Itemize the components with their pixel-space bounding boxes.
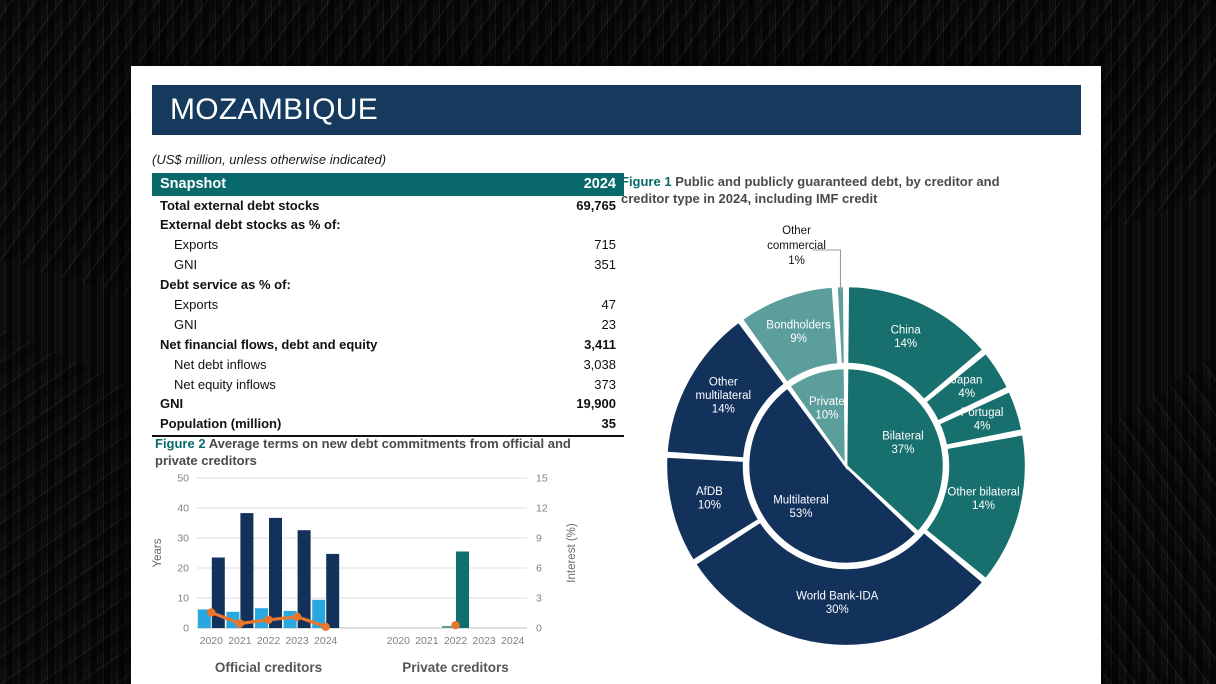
interest-rate-marker (264, 616, 272, 624)
pie-slice-label: 4% (974, 420, 991, 432)
snapshot-row-value: 351 (533, 256, 624, 276)
snapshot-row-label: Debt service as % of: (152, 276, 533, 296)
pie-callout-label: 1% (788, 255, 805, 267)
bar-maturity (240, 513, 253, 628)
table-row: Debt service as % of: (152, 276, 624, 296)
pie-slice-label: 37% (891, 444, 914, 456)
interest-rate-marker (207, 608, 215, 616)
snapshot-row-label: Net financial flows, debt and equity (152, 335, 533, 355)
page-title: MOZAMBIQUE (152, 93, 378, 127)
pie-slice-label: Other (709, 377, 738, 389)
figure1-pie-chart: Bilateral37%Multilateral53%Private10%Chi… (631, 216, 1061, 676)
interest-rate-marker (451, 621, 459, 629)
table-row: Net financial flows, debt and equity3,41… (152, 335, 624, 355)
snapshot-row-value (533, 276, 624, 296)
snapshot-row-label: GNI (152, 315, 533, 335)
snapshot-header-year: 2024 (533, 173, 624, 196)
interest-rate-marker (322, 623, 330, 631)
table-row: Exports715 (152, 236, 624, 256)
snapshot-row-value: 373 (533, 375, 624, 395)
snapshot-row-value (533, 216, 624, 236)
snapshot-row-value: 715 (533, 236, 624, 256)
figure2-bar-chart: 0010320630940125015YearsInterest (%)2020… (145, 470, 625, 682)
x-axis-tick-label: 2023 (285, 635, 309, 647)
units-note: (US$ million, unless otherwise indicated… (152, 152, 386, 167)
bar-maturity (456, 552, 469, 629)
figure2-title: Figure 2 Average terms on new debt commi… (155, 436, 605, 469)
pie-slice-label: 4% (958, 388, 975, 400)
figure1-title: Figure 1 Public and publicly guaranteed … (621, 174, 1041, 207)
figure2-title-text: Average terms on new debt commitments fr… (155, 436, 571, 468)
table-row: GNI23 (152, 315, 624, 335)
y-axis-right-tick: 9 (536, 533, 542, 545)
x-axis-tick-label: 2021 (228, 635, 252, 647)
table-row: Exports47 (152, 295, 624, 315)
y-axis-right-tick: 3 (536, 593, 542, 605)
pie-slice-label: 9% (790, 333, 807, 345)
snapshot-row-value: 69,765 (533, 196, 624, 216)
report-page: MOZAMBIQUE (US$ million, unless otherwis… (131, 66, 1101, 684)
y-axis-right-tick: 6 (536, 563, 542, 575)
pie-slice-label: 10% (815, 410, 838, 422)
x-axis-tick-label: 2023 (472, 635, 496, 647)
y-axis-right-title: Interest (%) (566, 523, 578, 583)
pie-slice-label: AfDB (696, 486, 723, 498)
figure2-number: Figure 2 (155, 436, 206, 451)
snapshot-row-label: GNI (152, 395, 533, 415)
figure1-title-text: Public and publicly guaranteed debt, by … (621, 174, 1000, 206)
pie-slice-label: Bondholders (766, 319, 831, 331)
y-axis-left-tick: 40 (177, 503, 189, 515)
pie-slice-label: 14% (972, 500, 995, 512)
pie-slice-label: Portugal (961, 407, 1004, 419)
country-banner: MOZAMBIQUE (152, 85, 1081, 135)
table-row: Total external debt stocks69,765 (152, 196, 624, 216)
chart-group-title: Official creditors (215, 660, 322, 675)
snapshot-row-label: Population (million) (152, 415, 533, 436)
table-row: Net debt inflows3,038 (152, 355, 624, 375)
y-axis-left-tick: 30 (177, 533, 189, 545)
figure1-number: Figure 1 (621, 174, 672, 189)
pie-callout-label: commercial (767, 240, 826, 252)
x-axis-tick-label: 2020 (387, 635, 411, 647)
snapshot-row-label: Net equity inflows (152, 375, 533, 395)
y-axis-right-tick: 15 (536, 473, 548, 485)
bar-maturity (298, 530, 311, 628)
y-axis-right-tick: 12 (536, 503, 548, 515)
pie-slice-label: Private (809, 396, 845, 408)
snapshot-row-label: Net debt inflows (152, 355, 533, 375)
pie-slice-label: Multilateral (773, 495, 829, 507)
table-row: GNI351 (152, 256, 624, 276)
bar-chart-svg: 0010320630940125015YearsInterest (%)2020… (145, 470, 625, 682)
pie-slice-label: Japan (951, 374, 982, 386)
snapshot-row-label: External debt stocks as % of: (152, 216, 533, 236)
x-axis-tick-label: 2021 (415, 635, 439, 647)
snapshot-row-value: 23 (533, 315, 624, 335)
snapshot-row-label: Exports (152, 236, 533, 256)
chart-group-title: Private creditors (402, 660, 509, 675)
pie-slice-label: China (891, 324, 922, 336)
x-axis-tick-label: 2022 (257, 635, 281, 647)
bar-maturity (269, 518, 282, 628)
snapshot-row-value: 19,900 (533, 395, 624, 415)
pie-slice-label: 14% (894, 338, 917, 350)
snapshot-row-label: Total external debt stocks (152, 196, 533, 216)
y-axis-left-tick: 50 (177, 473, 189, 485)
snapshot-row-label: GNI (152, 256, 533, 276)
snapshot-row-value: 47 (533, 295, 624, 315)
pie-slice-label: 14% (712, 404, 735, 416)
snapshot-row-value: 3,038 (533, 355, 624, 375)
pie-slice-label: 10% (698, 500, 721, 512)
snapshot-table: Snapshot 2024 Total external debt stocks… (152, 173, 624, 437)
table-row: Net equity inflows373 (152, 375, 624, 395)
y-axis-left-tick: 10 (177, 593, 189, 605)
interest-rate-marker (236, 619, 244, 627)
interest-rate-marker (293, 613, 301, 621)
table-row: GNI19,900 (152, 395, 624, 415)
pie-slice-label: 53% (789, 508, 812, 520)
snapshot-row-value: 3,411 (533, 335, 624, 355)
pie-slice-label: Other bilateral (947, 486, 1019, 498)
pie-slice-label: multilateral (696, 390, 752, 402)
x-axis-tick-label: 2022 (444, 635, 468, 647)
x-axis-tick-label: 2024 (314, 635, 338, 647)
pie-slice-label: World Bank-IDA (796, 591, 879, 603)
pie-slice-label: 30% (826, 604, 849, 616)
pie-slice-label: Bilateral (882, 430, 924, 442)
table-row: External debt stocks as % of: (152, 216, 624, 236)
x-axis-tick-label: 2020 (200, 635, 224, 647)
pie-chart-svg: Bilateral37%Multilateral53%Private10%Chi… (631, 216, 1061, 676)
bar-maturity (326, 554, 339, 628)
y-axis-left-tick: 20 (177, 563, 189, 575)
snapshot-row-label: Exports (152, 295, 533, 315)
pie-callout-label: Other (782, 225, 811, 237)
snapshot-row-value: 35 (533, 415, 624, 436)
y-axis-right-tick: 0 (536, 623, 542, 635)
x-axis-tick-label: 2024 (501, 635, 525, 647)
table-row: Population (million)35 (152, 415, 624, 436)
y-axis-left-title: Years (152, 538, 164, 567)
snapshot-header-row: Snapshot 2024 (152, 173, 624, 196)
snapshot-header-label: Snapshot (152, 173, 533, 196)
y-axis-left-tick: 0 (183, 623, 189, 635)
